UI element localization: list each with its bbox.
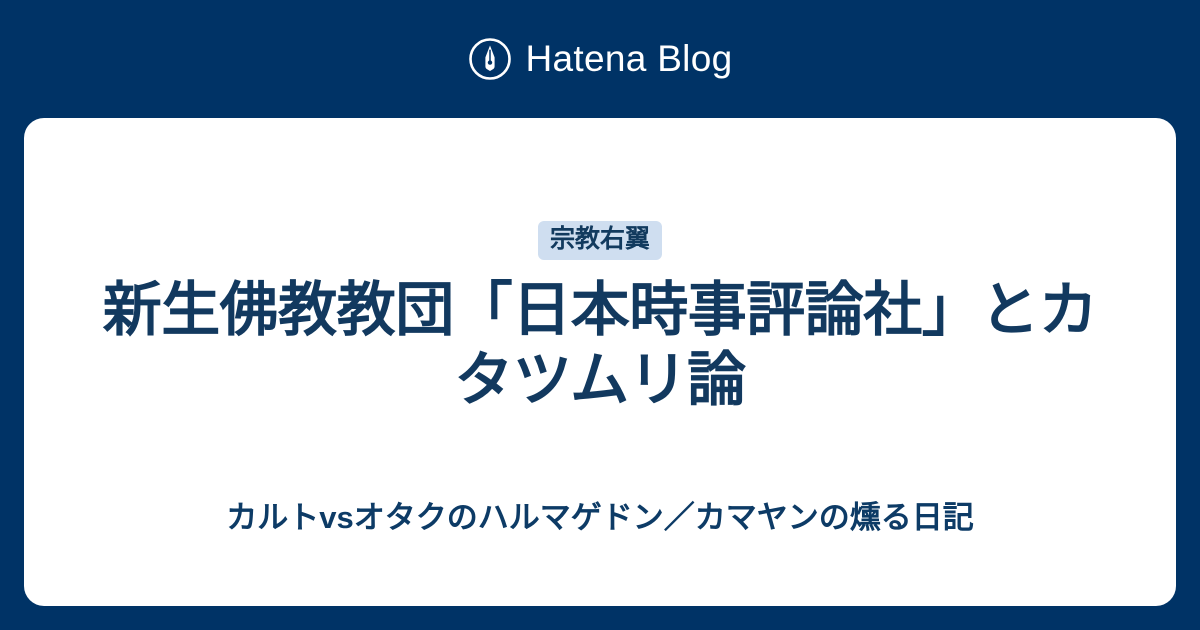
- blog-title: カルトvsオタクのハルマゲドン／カマヤンの燻る日記: [226, 499, 973, 538]
- blog-title-row: カルトvsオタクのハルマゲドン／カマヤンの燻る日記: [24, 499, 1176, 538]
- ogp-card-root: Hatena Blog 宗教右翼 新生佛教教団「日本時事評論社」とカタツムリ論 …: [0, 0, 1200, 630]
- category-badge[interactable]: 宗教右翼: [538, 221, 662, 260]
- entry-title: 新生佛教教団「日本時事評論社」とカタツムリ論: [94, 276, 1106, 415]
- hatena-pen-nib-icon: [468, 37, 512, 81]
- entry-card: 宗教右翼 新生佛教教団「日本時事評論社」とカタツムリ論 カルトvsオタクのハルマ…: [24, 118, 1176, 606]
- hatena-blog-brand-name: Hatena Blog: [526, 37, 733, 81]
- category-row: 宗教右翼: [94, 221, 1106, 260]
- hatena-blog-brand-bar: Hatena Blog: [0, 0, 1200, 118]
- entry-card-inner: 宗教右翼 新生佛教教団「日本時事評論社」とカタツムリ論: [24, 118, 1176, 415]
